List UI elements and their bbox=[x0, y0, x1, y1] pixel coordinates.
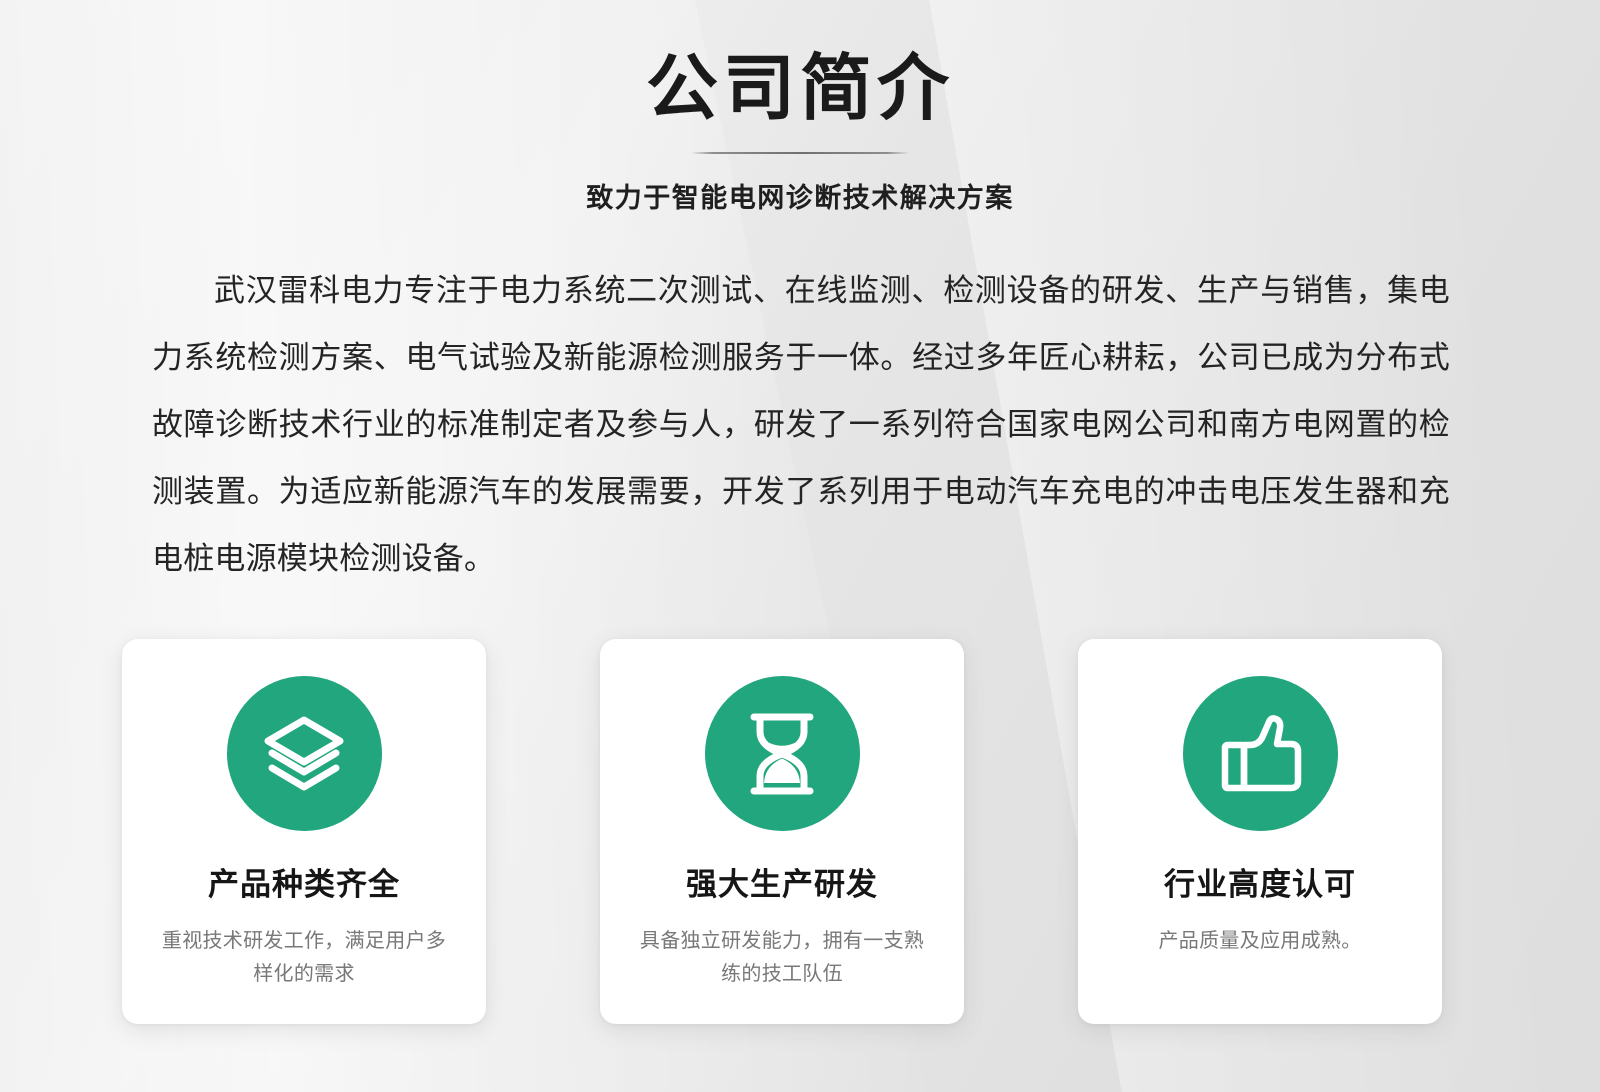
feature-card-description: 重视技术研发工作，满足用户多样化的需求 bbox=[154, 925, 454, 991]
feature-card-industry-recognition[interactable]: 行业高度认可 产品质量及应用成熟。 bbox=[1078, 639, 1442, 1024]
feature-card-list: 产品种类齐全 重视技术研发工作，满足用户多样化的需求 bbox=[0, 639, 1600, 1024]
title-divider-icon bbox=[691, 152, 909, 154]
feature-card-description: 产品质量及应用成熟。 bbox=[1159, 925, 1362, 958]
feature-card-title: 行业高度认可 bbox=[1164, 866, 1356, 903]
icon-badge bbox=[1183, 676, 1338, 831]
page-subtitle: 致力于智能电网诊断技术解决方案 bbox=[0, 176, 1600, 215]
company-intro-page: 公司简介 致力于智能电网诊断技术解决方案 武汉雷科电力专注于电力系统二次测试、在… bbox=[0, 0, 1600, 1092]
page-title: 公司简介 bbox=[0, 44, 1600, 134]
feature-card-rnd-capability[interactable]: 强大生产研发 具备独立研发能力，拥有一支熟练的技工队伍 bbox=[600, 639, 964, 1024]
icon-badge bbox=[227, 676, 382, 831]
layers-icon bbox=[260, 710, 348, 798]
feature-card-product-variety[interactable]: 产品种类齐全 重视技术研发工作，满足用户多样化的需求 bbox=[122, 639, 486, 1024]
feature-card-title: 强大生产研发 bbox=[686, 866, 878, 903]
feature-card-title: 产品种类齐全 bbox=[208, 866, 400, 903]
icon-badge bbox=[705, 676, 860, 831]
thumbs-up-icon bbox=[1214, 709, 1306, 799]
feature-card-description: 具备独立研发能力，拥有一支熟练的技工队伍 bbox=[632, 925, 932, 991]
company-intro-paragraph: 武汉雷科电力专注于电力系统二次测试、在线监测、检测设备的研发、生产与销售，集电力… bbox=[152, 257, 1450, 592]
hourglass-icon bbox=[740, 710, 824, 798]
page-header: 公司简介 致力于智能电网诊断技术解决方案 bbox=[0, 0, 1600, 215]
